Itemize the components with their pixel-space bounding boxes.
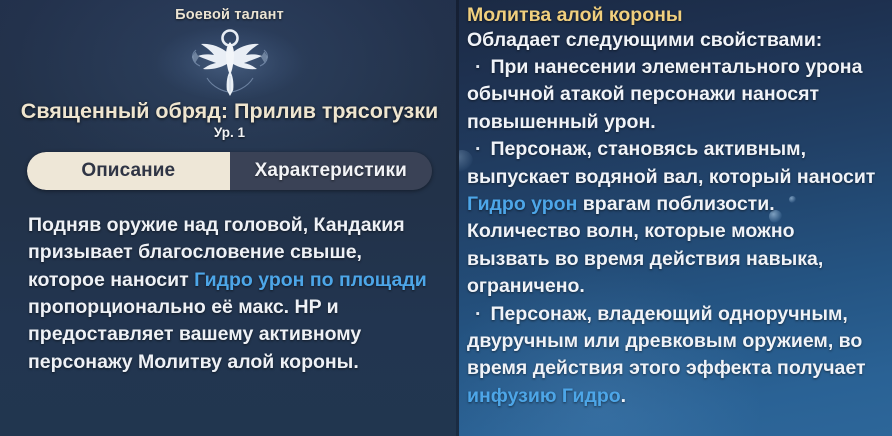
bullet-dot-icon: · xyxy=(467,56,491,78)
effect-bullet-1-segment-1-hydro: Гидро урон xyxy=(467,193,577,215)
effect-bullet-2-segment-1-hydro: инфузию Гидро xyxy=(467,385,621,407)
talent-effect-panel: Молитва алой короны Обладает следующими … xyxy=(459,0,892,436)
effect-title: Молитва алой короны xyxy=(467,4,882,27)
effect-bullet-2-segment-2: . xyxy=(621,385,626,407)
talent-description-text: Подняв оружие над головой, Кандакия приз… xyxy=(28,212,433,376)
talent-type-label: Боевой талант xyxy=(0,0,459,23)
tab-attributes[interactable]: Характеристики xyxy=(230,152,433,190)
talent-detail-screen: Боевой талант xyxy=(0,0,892,436)
effect-bullet-1: ·Персонаж, становясь активным, выпускает… xyxy=(467,136,882,300)
tab-description[interactable]: Описание xyxy=(27,152,230,190)
bullet-dot-icon: · xyxy=(467,138,491,160)
effect-intro: Обладает следующими свойствами: xyxy=(467,27,882,54)
description-segment-2: пропорционально её макс. HP и предоставл… xyxy=(28,296,361,373)
talent-level: Ур. 1 xyxy=(0,125,459,140)
effect-bullet-1-segment-0: Персонаж, становясь активным, выпускает … xyxy=(467,138,875,187)
effect-bullet-0-segment-0: При нанесении элементального урона обычн… xyxy=(467,56,862,133)
talent-tabs[interactable]: Описание Характеристики xyxy=(27,152,432,190)
talent-icon-container xyxy=(0,25,459,101)
effect-bullet-0: ·При нанесении элементального урона обыч… xyxy=(467,54,882,136)
bullet-dot-icon: · xyxy=(467,303,491,325)
talent-description-panel: Боевой талант xyxy=(0,0,459,436)
effect-bullet-2-segment-0: Персонаж, владеющий одноручным, двуручны… xyxy=(467,303,866,380)
effect-bullet-list: ·При нанесении элементального урона обыч… xyxy=(467,54,882,410)
winged-dove-talent-icon xyxy=(187,26,273,100)
effect-bullet-2: ·Персонаж, владеющий одноручным, двуручн… xyxy=(467,301,882,411)
talent-name: Священный обряд: Прилив трясогузки xyxy=(0,99,459,123)
description-segment-1-hydro: Гидро урон по площади xyxy=(194,269,427,291)
